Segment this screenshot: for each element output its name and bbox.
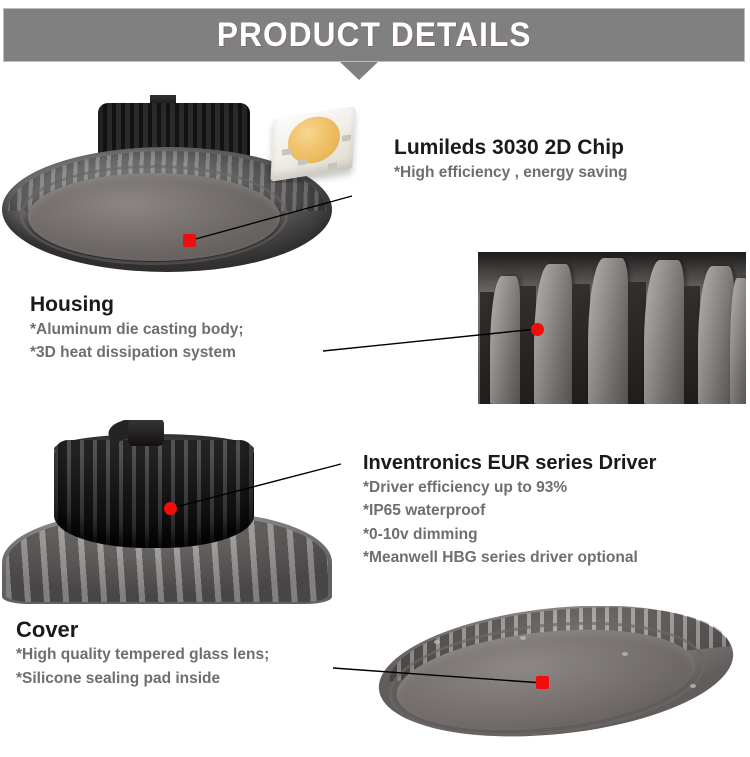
heat-sink-fin: [490, 276, 520, 404]
callout-dot-lumileds: [183, 234, 196, 247]
banner-arrow-notch: [340, 62, 378, 80]
callout-bullet-cover-0: *High quality tempered glass lens;: [16, 643, 269, 667]
callout-dot-driver: [164, 502, 177, 515]
callout-bullet-driver-0: *Driver efficiency up to 93%: [363, 476, 656, 500]
callout-bullet-cover-1: *Silicone sealing pad inside: [16, 667, 269, 691]
callout-bullet-driver-3: *Meanwell HBG series driver optional: [363, 546, 656, 570]
cover-screw: [622, 652, 628, 656]
heat-sink-fin: [730, 278, 746, 404]
banner-bar: PRODUCT DETAILS: [3, 8, 745, 62]
callout-text-housing: Housing *Aluminum die casting body; *3D …: [30, 293, 244, 365]
callout-bullet-lumileds-0: *High efficiency , energy saving: [394, 161, 627, 185]
page-header-banner: PRODUCT DETAILS: [3, 8, 745, 80]
callout-text-lumileds: Lumileds 3030 2D Chip *High efficiency ,…: [394, 136, 627, 184]
heat-sink-fin: [588, 258, 628, 404]
driver-enclosure: [54, 440, 254, 548]
callout-text-driver: Inventronics EUR series Driver *Driver e…: [363, 452, 656, 570]
callout-heading-driver: Inventronics EUR series Driver: [363, 452, 656, 476]
callout-dot-cover: [536, 676, 549, 689]
callout-bullet-housing-0: *Aluminum die casting body;: [30, 318, 244, 342]
heat-sink-fin: [644, 260, 684, 404]
product-details-page: PRODUCT DETAILS: [0, 0, 750, 757]
callout-bullet-driver-2: *0-10v dimming: [363, 523, 656, 547]
callout-heading-cover: Cover: [16, 617, 269, 643]
callout-bullet-driver-1: *IP65 waterproof: [363, 499, 656, 523]
callout-bullet-housing-1: *3D heat dissipation system: [30, 341, 244, 365]
callout-text-cover: Cover *High quality tempered glass lens;…: [16, 617, 269, 690]
lens-surface: [28, 173, 280, 261]
callout-dot-housing: [531, 323, 544, 336]
heat-sink-fins-photo: [478, 252, 746, 404]
callout-heading-lumileds: Lumileds 3030 2D Chip: [394, 136, 627, 161]
callout-heading-housing: Housing: [30, 293, 244, 318]
mounting-hook-base: [128, 420, 164, 446]
cover-screw: [690, 684, 696, 688]
page-title: PRODUCT DETAILS: [217, 18, 532, 52]
heat-sink-fin: [698, 266, 734, 404]
cover-screw: [520, 636, 526, 640]
glass-lens-cover-photo: [372, 606, 744, 754]
led-chip-photo: [266, 105, 360, 183]
cover-screw: [434, 640, 440, 644]
